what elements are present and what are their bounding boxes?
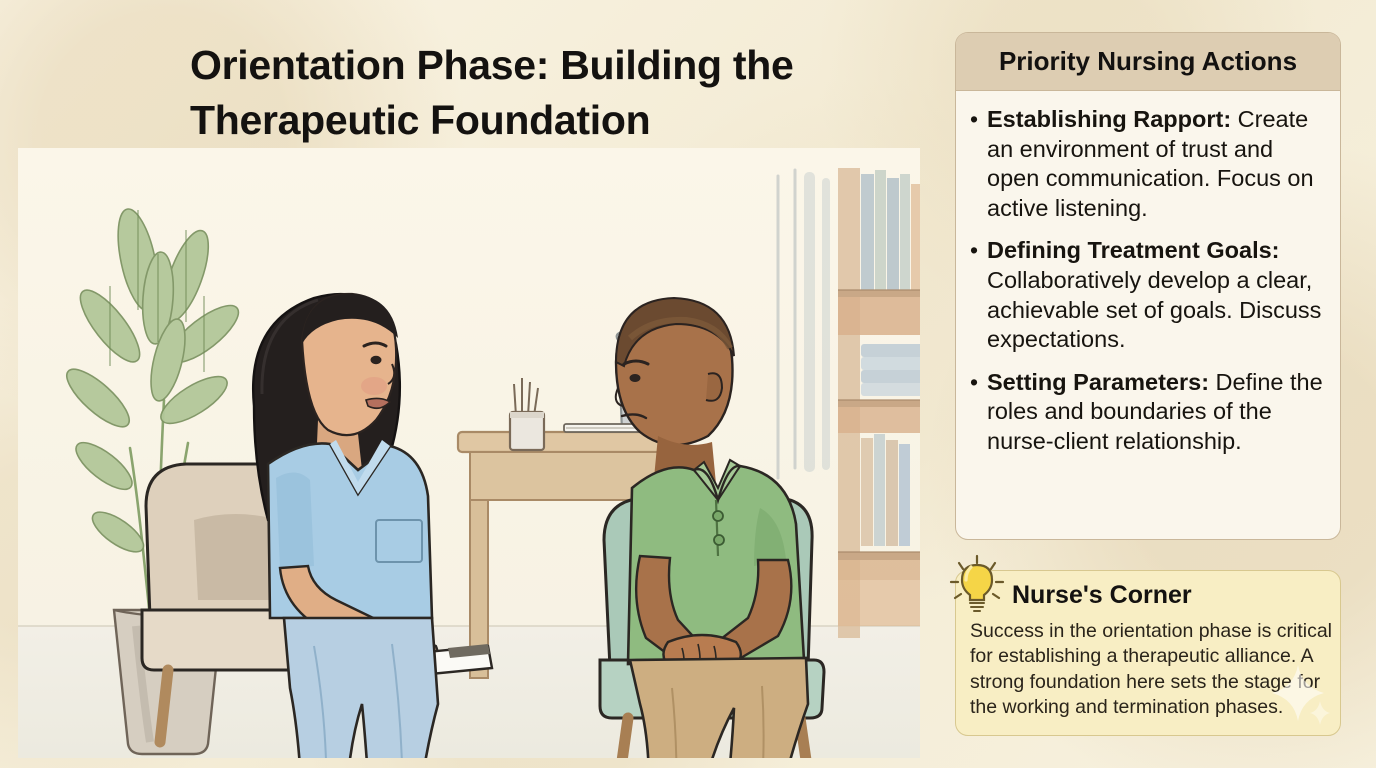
nurse-client-therapy-session-illustration <box>18 148 920 758</box>
priority-nursing-actions-panel: Priority Nursing Actions • Establishing … <box>955 32 1341 540</box>
list-item-term: Setting Parameters: <box>987 369 1209 395</box>
lightbulb-icon <box>946 553 1008 615</box>
nurses-corner-title: Nurse's Corner <box>1012 581 1192 610</box>
page-title: Orientation Phase: Building the Therapeu… <box>190 38 880 147</box>
list-item: • Defining Treatment Goals: Collaborativ… <box>970 236 1330 354</box>
nursing-actions-list: • Establishing Rapport: Create an enviro… <box>956 91 1340 480</box>
panel-header: Priority Nursing Actions <box>956 33 1340 91</box>
list-item-text: Establishing Rapport: Create an environm… <box>987 105 1330 223</box>
nurses-corner-body: Success in the orientation phase is crit… <box>956 619 1348 720</box>
list-item-text: Setting Parameters: Define the roles and… <box>987 368 1330 457</box>
panel-header-title: Priority Nursing Actions <box>999 46 1297 77</box>
list-item: • Setting Parameters: Define the roles a… <box>970 368 1330 457</box>
nurses-corner-panel: Nurse's Corner Success in the orientatio… <box>955 570 1341 736</box>
bullet-glyph: • <box>970 368 987 457</box>
list-item-description: Collaboratively develop a clear, achieva… <box>987 267 1321 352</box>
bullet-glyph: • <box>970 105 987 223</box>
nurses-corner-header: Nurse's Corner <box>956 571 1340 619</box>
list-item: • Establishing Rapport: Create an enviro… <box>970 105 1330 223</box>
bullet-glyph: • <box>970 236 987 354</box>
list-item-term: Defining Treatment Goals: <box>987 237 1280 263</box>
list-item-text: Defining Treatment Goals: Collaborativel… <box>987 236 1330 354</box>
list-item-term: Establishing Rapport: <box>987 106 1231 132</box>
infographic-page: Orientation Phase: Building the Therapeu… <box>0 0 1376 768</box>
